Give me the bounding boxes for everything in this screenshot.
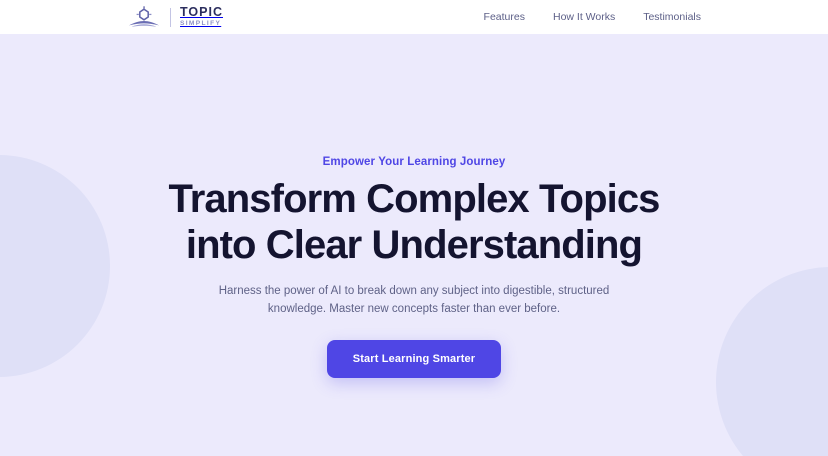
- nav-item-how-it-works[interactable]: How It Works: [553, 11, 615, 23]
- emblem-logo-icon: [127, 6, 161, 28]
- hero-subheading: Harness the power of AI to break down an…: [218, 283, 610, 319]
- nav-item-testimonials[interactable]: Testimonials: [643, 11, 701, 23]
- site-header: TOPIC SIMPLIFY Features How It Works Tes…: [0, 0, 828, 35]
- brand-divider: [170, 8, 171, 27]
- landing-page: TOPIC SIMPLIFY Features How It Works Tes…: [0, 0, 828, 456]
- brand-logo-link[interactable]: TOPIC SIMPLIFY: [127, 6, 223, 28]
- brand-wordmark: TOPIC SIMPLIFY: [180, 6, 223, 27]
- start-learning-button[interactable]: Start Learning Smarter: [327, 340, 502, 378]
- page-title: Transform Complex Topics into Clear Unde…: [168, 176, 659, 269]
- hero-eyebrow: Empower Your Learning Journey: [323, 156, 506, 168]
- primary-nav: Features How It Works Testimonials: [484, 11, 701, 23]
- wordmark-primary: TOPIC: [180, 6, 223, 19]
- nav-item-features[interactable]: Features: [484, 11, 525, 23]
- headline-line-1: Transform Complex Topics: [168, 176, 659, 222]
- headline-line-2: into Clear Understanding: [168, 222, 659, 268]
- hero-content: Empower Your Learning Journey Transform …: [0, 35, 828, 456]
- wordmark-secondary: SIMPLIFY: [180, 21, 223, 28]
- hero-section: Empower Your Learning Journey Transform …: [0, 35, 828, 456]
